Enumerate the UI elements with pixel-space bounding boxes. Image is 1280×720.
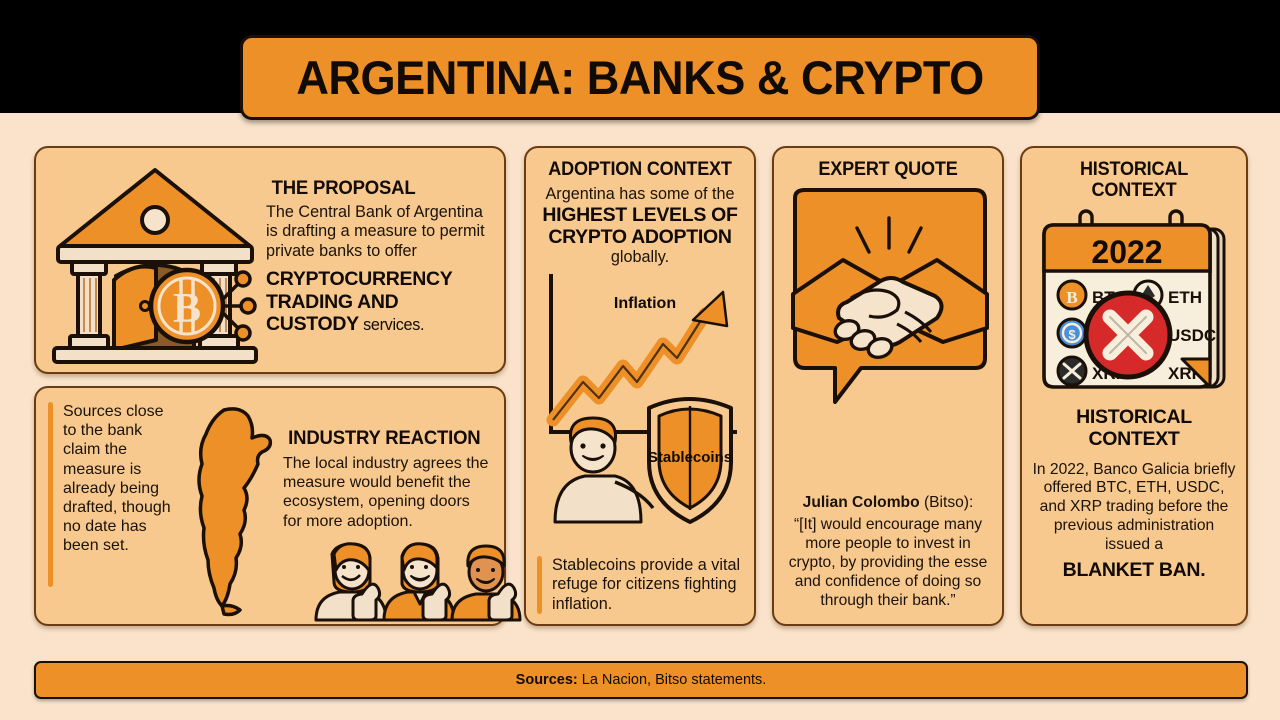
sources-label: Sources:	[516, 672, 578, 688]
industry-body: The local industry agrees the measure wo…	[283, 454, 490, 531]
three-people-thumbs-up-illustration	[306, 542, 526, 620]
proposal-body-tail: services.	[359, 316, 424, 334]
panel-heading-industry: INDUSTRY REACTION	[288, 428, 485, 449]
adoption-body-strong: HIGHEST LEVELS OF CRYPTO ADOPTION	[537, 204, 743, 248]
accent-bar-adoption-footnote	[537, 556, 542, 614]
adoption-body-tail: globally.	[537, 248, 743, 267]
adoption-footnote: Stablecoins provide a vital refuge for c…	[552, 556, 743, 614]
argentina-map-illustration	[178, 402, 283, 616]
bank-bitcoin-illustration: B	[44, 158, 266, 362]
historical-subheading: HISTORICAL CONTEXT	[1032, 407, 1236, 451]
accent-bar-industry-quote	[48, 402, 53, 587]
sources-text: La Nacion, Bitso statements.	[578, 672, 767, 688]
svg-text:B: B	[173, 286, 201, 332]
page-title: ARGENTINA: BANKS & CRYPTO	[296, 50, 983, 105]
inflation-chart-illustration: Inflation Stablecoins	[537, 270, 743, 528]
adoption-body-lead: Argentina has some of the	[537, 185, 743, 204]
panel-industry-reaction: Sources close to the bank claim the meas…	[34, 386, 506, 626]
chart-label-stablecoins: Stablecoins	[648, 449, 732, 466]
expert-quote-text: “[It] would encourage many more people t…	[785, 515, 991, 610]
calendar-2022-illustration: 2022 B BTC ETH $ USDC	[1032, 207, 1236, 393]
panel-heading-adoption: ADOPTION CONTEXT	[542, 160, 738, 181]
asset-label-usdc: USDC	[1168, 326, 1216, 345]
expert-attribution-name: Julian Colombo	[803, 494, 920, 511]
panel-historical-context: HISTORICAL CONTEXT 2022	[1020, 146, 1248, 626]
svg-text:$: $	[1068, 327, 1076, 342]
asset-label-eth: ETH	[1168, 288, 1202, 307]
panel-heading-proposal: THE PROPOSAL	[272, 178, 485, 199]
panel-expert-quote: EXPERT QUOTE	[772, 146, 1004, 626]
industry-sources-quote: Sources close to the bank claim the meas…	[63, 402, 178, 587]
panel-heading-historical: HISTORICAL CONTEXT	[1037, 160, 1231, 201]
infographic-canvas: ARGENTINA: BANKS & CRYPTO	[0, 0, 1280, 720]
historical-body-strong: BLANKET BAN.	[1032, 559, 1236, 581]
panel-heading-expert: EXPERT QUOTE	[790, 160, 986, 181]
chart-label-inflation: Inflation	[614, 295, 676, 312]
sources-bar: Sources: La Nacion, Bitso statements.	[34, 661, 1248, 699]
panel-the-proposal: B THE PROPOSAL The Central Bank of Argen…	[34, 146, 506, 374]
historical-body-lead: In 2022, Banco Galicia briefly offered B…	[1032, 461, 1236, 555]
panel-adoption-context: ADOPTION CONTEXT Argentina has some of t…	[524, 146, 756, 626]
red-x-circle-icon	[1086, 293, 1170, 377]
page-title-badge: ARGENTINA: BANKS & CRYPTO	[240, 35, 1040, 120]
proposal-body-lead: The Central Bank of Argentina is draftin…	[266, 203, 490, 261]
expert-attribution-org: (Bitso):	[920, 494, 974, 511]
calendar-year-label: 2022	[1091, 234, 1162, 270]
svg-text:B: B	[1066, 288, 1077, 307]
handshake-speech-bubble-illustration	[785, 190, 991, 420]
